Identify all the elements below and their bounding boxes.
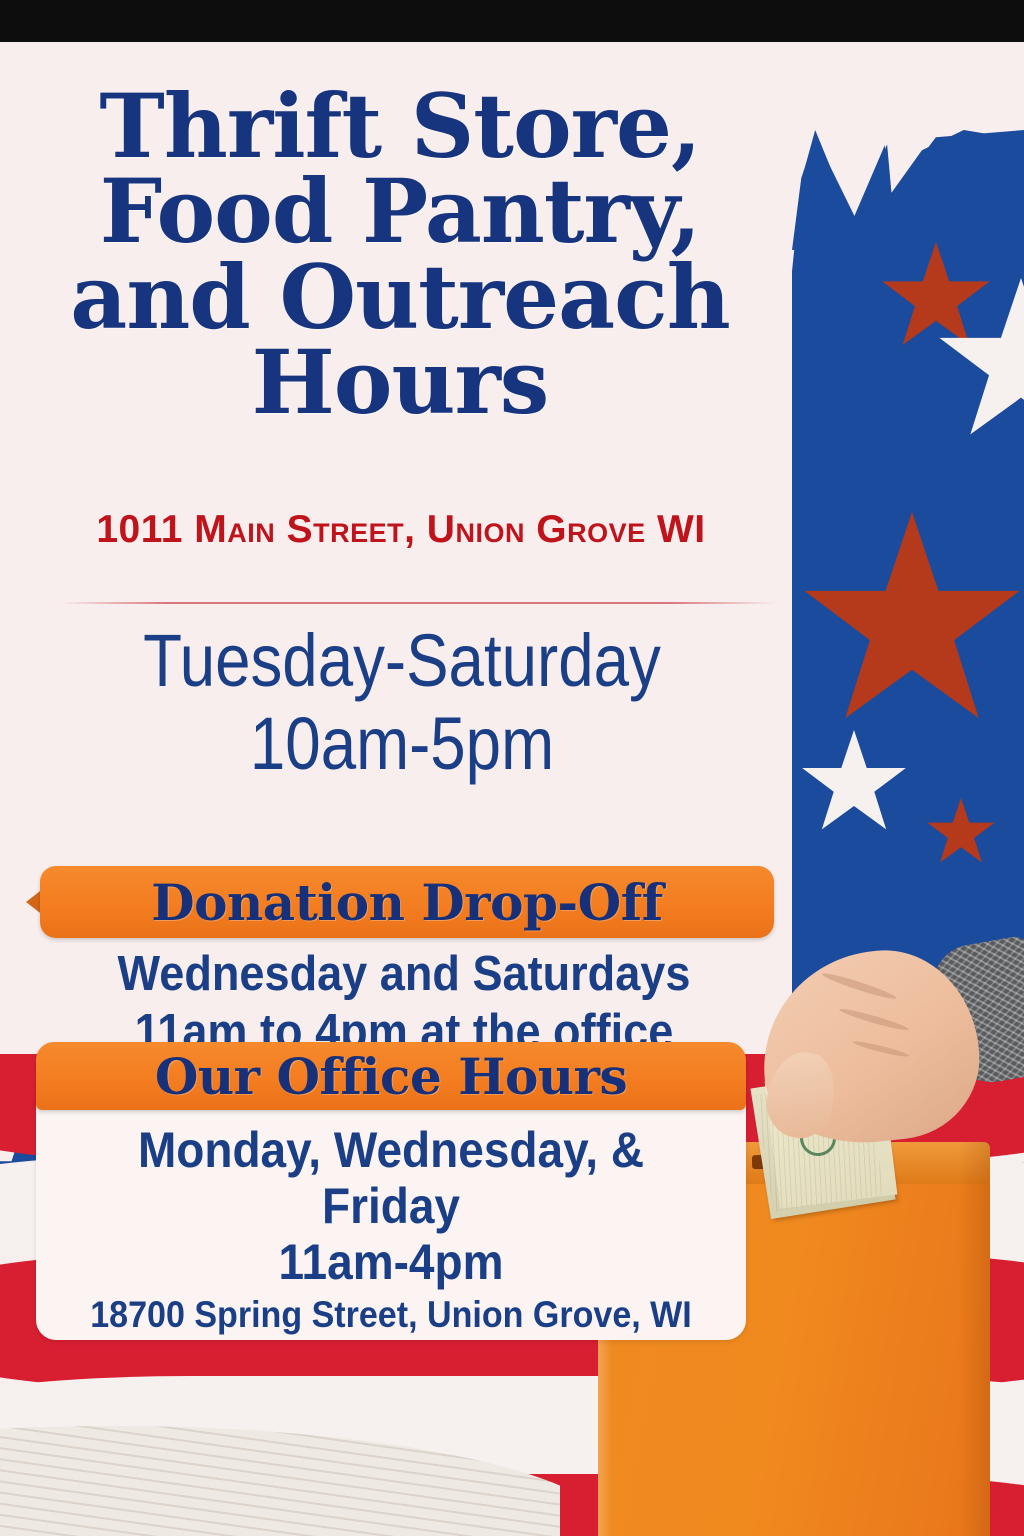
- title-line-4: Hours: [28, 340, 772, 425]
- office-days: Monday, Wednesday, & Friday: [64, 1122, 717, 1234]
- title-line-1: Thrift Store,: [28, 84, 772, 169]
- title-line-2: Food Pantry,: [28, 169, 772, 254]
- store-hours-days: Tuesday-Saturday: [82, 620, 722, 703]
- poster-screen: 100 Thrift Store, Food Pantry, and Outre…: [0, 0, 1024, 1536]
- title-line-3: and Outreach: [28, 255, 772, 340]
- office-address: 18700 Spring Street, Union Grove, WI: [64, 1292, 717, 1338]
- office-hours-banner: Our Office Hours: [36, 1042, 746, 1110]
- store-address: 1011 Main Street, Union Grove WI: [26, 508, 776, 552]
- office-time: 11am-4pm: [64, 1234, 717, 1290]
- office-banner-label: Our Office Hours: [155, 1047, 627, 1106]
- letterbox-top-bar: [0, 0, 1024, 42]
- page-title: Thrift Store, Food Pantry, and Outreach …: [28, 84, 772, 425]
- donation-dropoff-banner: Donation Drop-Off: [40, 866, 774, 938]
- store-hours-time: 10am-5pm: [82, 703, 722, 786]
- donation-days: Wednesday and Saturdays: [64, 946, 745, 1004]
- poster-content: Thrift Store, Food Pantry, and Outreach …: [0, 42, 1024, 1536]
- poster-canvas: 100 Thrift Store, Food Pantry, and Outre…: [0, 42, 1024, 1536]
- address-divider: [60, 602, 776, 604]
- office-details-block: Monday, Wednesday, & Friday 11am-4pm 187…: [64, 1122, 717, 1338]
- store-hours-block: Tuesday-Saturday 10am-5pm: [82, 620, 722, 786]
- donation-banner-label: Donation Drop-Off: [151, 873, 663, 932]
